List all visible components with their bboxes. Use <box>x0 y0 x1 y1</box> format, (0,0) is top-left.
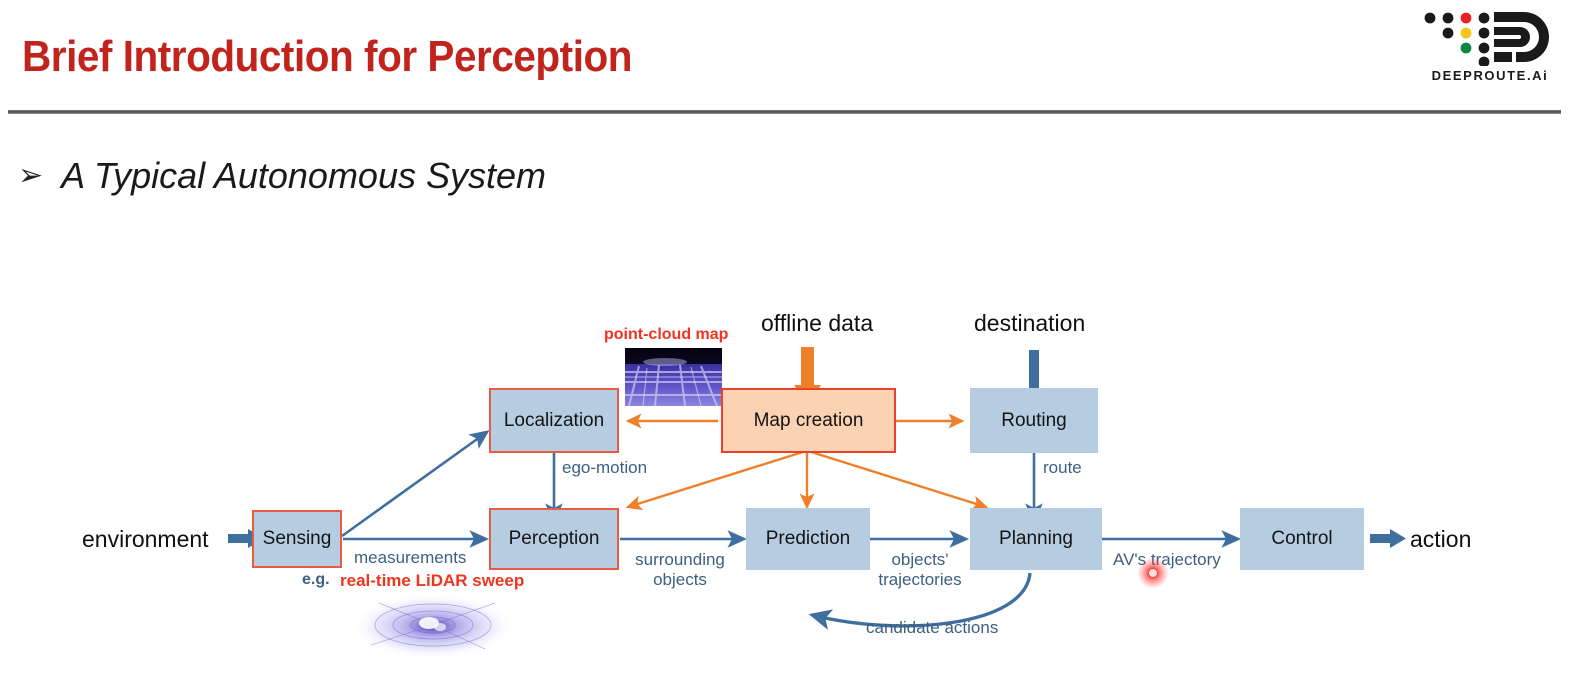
lidar-sweep-image <box>345 583 520 663</box>
node-perception-label: Perception <box>509 528 600 550</box>
node-perception[interactable]: Perception <box>489 508 619 570</box>
point-cloud-map-thumbnail <box>625 348 722 406</box>
page-title: Brief Introduction for Perception <box>22 32 632 82</box>
deeproute-wordmark: DEEPROUTE.Ai <box>1420 68 1560 83</box>
label-surrounding-objects: surrounding objects <box>630 550 730 590</box>
label-eg-prefix: e.g. <box>302 571 330 589</box>
bullet-text: A Typical Autonomous System <box>61 155 546 197</box>
label-objects-trajectories-line1: objects' <box>872 550 968 570</box>
node-routing-label: Routing <box>1001 410 1067 432</box>
slide-canvas: Brief Introduction for Perception DEEPRO… <box>0 0 1569 687</box>
label-ego-motion: ego-motion <box>562 458 647 478</box>
label-objects-trajectories-line2: trajectories <box>872 570 968 590</box>
node-routing[interactable]: Routing <box>970 388 1098 453</box>
deeproute-logo: DEEPROUTE.Ai <box>1420 8 1560 96</box>
node-localization-label: Localization <box>504 410 604 432</box>
label-route: route <box>1043 458 1082 478</box>
bullet-arrow-icon: ➢ <box>18 161 43 191</box>
node-planning-label: Planning <box>999 528 1073 550</box>
node-prediction[interactable]: Prediction <box>746 508 870 570</box>
label-surrounding-objects-line1: surrounding <box>630 550 730 570</box>
arrow-map-to-planning <box>808 451 986 507</box>
click-indicator <box>1138 558 1168 588</box>
node-control-label: Control <box>1271 528 1332 550</box>
arrow-control-to-action <box>1370 529 1406 548</box>
label-offline-data: offline data <box>761 310 873 337</box>
label-measurements: measurements <box>354 548 466 568</box>
node-map-creation-label: Map creation <box>754 410 864 432</box>
node-planning[interactable]: Planning <box>970 508 1102 570</box>
label-environment: environment <box>82 526 209 553</box>
arrow-sensing-to-localization <box>342 432 487 536</box>
label-candidate-actions: candidate actions <box>866 618 998 638</box>
deeproute-logo-mark <box>1420 8 1560 66</box>
header-divider <box>8 110 1561 114</box>
autonomous-system-diagram: Sensing Localization Perception Map crea… <box>0 255 1569 687</box>
label-objects-trajectories: objects' trajectories <box>872 550 968 590</box>
label-point-cloud-map: point-cloud map <box>604 326 728 344</box>
label-destination: destination <box>974 310 1085 337</box>
label-surrounding-objects-line2: objects <box>630 570 730 590</box>
node-localization[interactable]: Localization <box>489 388 619 453</box>
node-prediction-label: Prediction <box>766 528 851 550</box>
label-action: action <box>1410 526 1471 553</box>
node-sensing-label: Sensing <box>263 528 332 550</box>
node-map-creation[interactable]: Map creation <box>721 388 896 453</box>
label-lidar-sweep: real-time LiDAR sweep <box>340 571 524 591</box>
arrow-map-to-perception <box>628 451 806 507</box>
node-control[interactable]: Control <box>1240 508 1364 570</box>
bullet-line: ➢ A Typical Autonomous System <box>18 155 546 197</box>
node-sensing[interactable]: Sensing <box>252 510 342 568</box>
